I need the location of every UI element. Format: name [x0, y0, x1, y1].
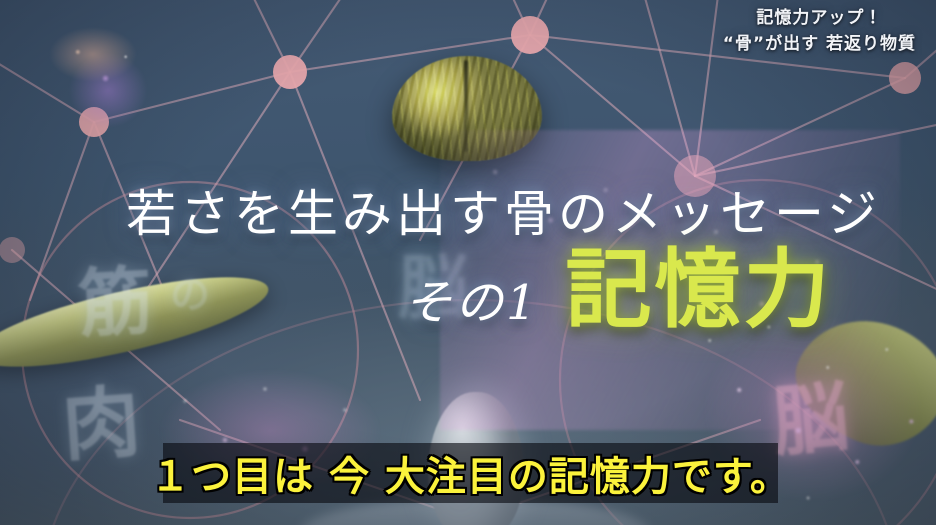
watermark-meat-kanji: 肉 — [58, 359, 146, 476]
watermark-muscle-kanji: 筋 — [75, 241, 156, 352]
topic-title: 記憶力 — [566, 250, 833, 332]
topic-title-line: その1 記憶力 — [404, 250, 833, 333]
node-upper-mid — [273, 55, 307, 89]
corner-caption-line-1: 記憶力アップ！ — [723, 6, 916, 32]
node-top-center — [511, 16, 549, 54]
network-edge — [695, 0, 720, 176]
subtitle-bar: １つ目は 今 大注目の記憶力です。 — [163, 443, 778, 503]
program-corner-caption: 記憶力アップ！ “骨”が出す 若返り物質 — [723, 6, 916, 58]
node-far-right — [889, 62, 921, 94]
network-edge — [0, 40, 94, 122]
network-edge — [695, 78, 905, 176]
network-edge — [530, 35, 695, 176]
node-left-low — [0, 237, 25, 263]
subtitle-text: １つ目は 今 大注目の記憶力です。 — [150, 444, 791, 502]
network-edge — [640, 0, 695, 176]
brain-hemisphere-divider — [464, 60, 468, 152]
main-title: 若さを生み出す骨のメッセージ — [126, 174, 881, 246]
network-edge — [94, 72, 290, 122]
sequence-label: その1 — [404, 263, 540, 333]
watermark-possessive-kana: の — [170, 262, 212, 320]
corner-caption-line-2: “骨”が出す 若返り物質 — [723, 32, 916, 58]
video-frame: 筋 の 肉 脳 脳 記憶力アップ！ “骨”が出す 若返り物質 若さを生み出す骨の… — [0, 0, 936, 525]
network-edge — [695, 120, 936, 176]
node-top-left — [79, 107, 109, 137]
